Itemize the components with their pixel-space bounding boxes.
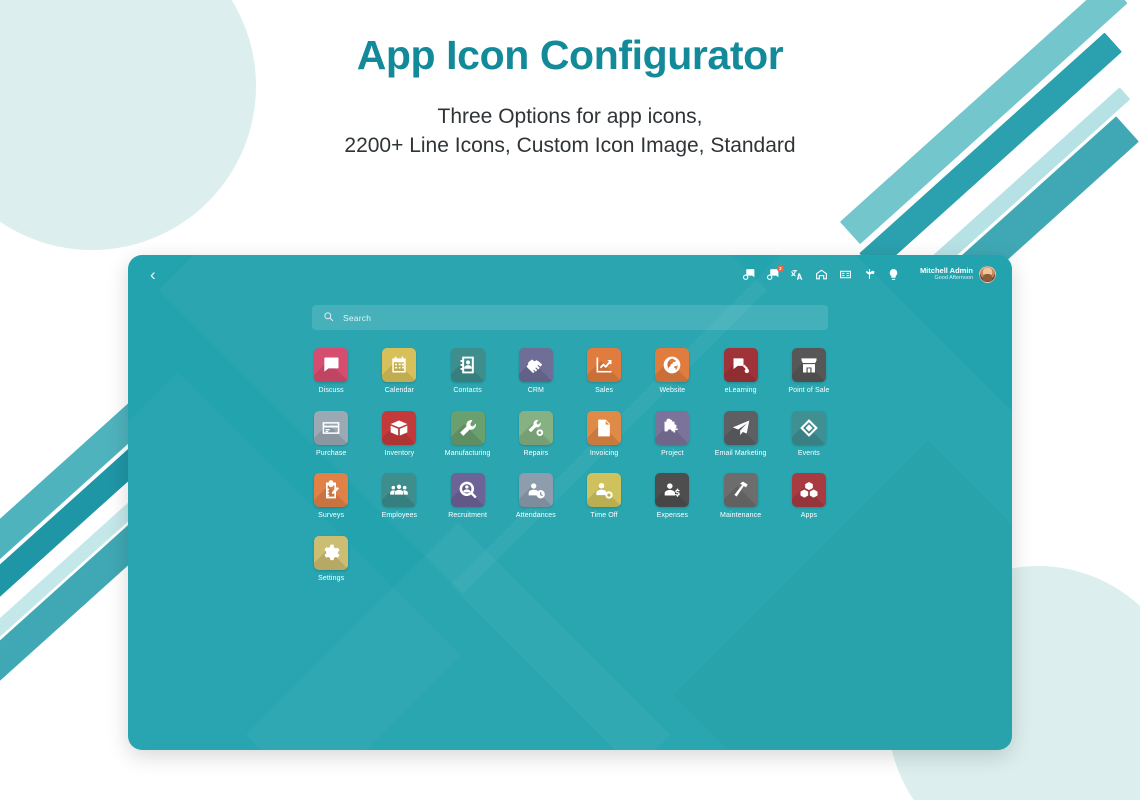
box-icon[interactable] [382, 411, 416, 445]
app-label: Sales [595, 387, 613, 395]
paper-plane-icon[interactable] [724, 411, 758, 445]
app-label: Recruitment [448, 512, 487, 520]
handshake-icon[interactable] [519, 348, 553, 382]
people-icon[interactable] [382, 473, 416, 507]
app-label: Discuss [319, 387, 344, 395]
page-subtitle-line-2: 2200+ Line Icons, Custom Icon Image, Sta… [0, 132, 1140, 160]
messages-icon[interactable] [742, 267, 757, 282]
app-tile-maintenance[interactable]: Maintenance [707, 473, 775, 520]
page-header: App Icon Configurator Three Options for … [0, 0, 1140, 160]
puzzle-icon[interactable] [655, 411, 689, 445]
app-tile-attendances[interactable]: Attendances [502, 473, 570, 520]
app-tile-surveys[interactable]: Surveys [297, 473, 365, 520]
wrench-icon[interactable] [451, 411, 485, 445]
app-tile-point-of-sale[interactable]: Point of Sale [775, 348, 843, 395]
app-label: Time Off [591, 512, 618, 520]
apps-grid-icon[interactable] [838, 267, 853, 282]
app-tile-email-marketing[interactable]: Email Marketing [707, 411, 775, 458]
app-label: Email Marketing [715, 450, 767, 458]
user-greeting: Good Afternoon [920, 275, 973, 281]
debug-icon[interactable] [862, 267, 877, 282]
app-label: Contacts [453, 387, 481, 395]
avatar[interactable] [979, 266, 996, 283]
search-bar[interactable]: Search [312, 305, 828, 330]
app-tile-calendar[interactable]: Calendar [365, 348, 433, 395]
app-label: Inventory [385, 450, 415, 458]
user-name: Mitchell Admin [920, 267, 973, 276]
app-label: CRM [528, 387, 544, 395]
app-tile-elearning[interactable]: eLearning [707, 348, 775, 395]
app-label: Surveys [318, 512, 344, 520]
app-label: Repairs [523, 450, 548, 458]
app-tile-manufacturing[interactable]: Manufacturing [434, 411, 502, 458]
app-label: Calendar [385, 387, 414, 395]
app-tile-recruitment[interactable]: Recruitment [434, 473, 502, 520]
app-label: eLearning [725, 387, 757, 395]
storefront-icon[interactable] [792, 348, 826, 382]
gear-icon[interactable] [314, 536, 348, 570]
app-label: Point of Sale [788, 387, 829, 395]
app-label: Settings [318, 575, 344, 583]
app-grid: DiscussCalendarContactsCRMSalesWebsiteeL… [297, 348, 843, 583]
repair-gear-icon[interactable] [519, 411, 553, 445]
app-label: Invoicing [590, 450, 619, 458]
app-tile-sales[interactable]: Sales [570, 348, 638, 395]
person-dollar-icon[interactable] [655, 473, 689, 507]
app-label: Purchase [316, 450, 346, 458]
app-window: ‹ 2 [128, 255, 1012, 750]
user-menu[interactable]: Mitchell Admin Good Afternoon [920, 266, 996, 283]
search-input[interactable]: Search [343, 313, 371, 323]
contacts-icon[interactable] [451, 348, 485, 382]
app-tile-contacts[interactable]: Contacts [434, 348, 502, 395]
app-label: Events [798, 450, 820, 458]
enterprise-icon[interactable] [814, 267, 829, 282]
page-title: App Icon Configurator [0, 30, 1140, 81]
cubes-icon[interactable] [792, 473, 826, 507]
app-tile-inventory[interactable]: Inventory [365, 411, 433, 458]
magnifier-person-icon[interactable] [451, 473, 485, 507]
app-label: Project [661, 450, 684, 458]
person-gear-icon[interactable] [587, 473, 621, 507]
app-tile-apps[interactable]: Apps [775, 473, 843, 520]
calendar-icon[interactable] [382, 348, 416, 382]
sales-chart-icon[interactable] [587, 348, 621, 382]
app-tile-purchase[interactable]: Purchase [297, 411, 365, 458]
app-tile-project[interactable]: Project [638, 411, 706, 458]
tips-icon[interactable] [886, 267, 901, 282]
window-topbar: ‹ 2 [128, 255, 1012, 293]
page-subtitle: Three Options for app icons, 2200+ Line … [0, 103, 1140, 160]
clipboard-edit-icon[interactable] [314, 473, 348, 507]
person-clock-icon[interactable] [519, 473, 553, 507]
app-tile-expenses[interactable]: Expenses [638, 473, 706, 520]
elearning-icon[interactable] [724, 348, 758, 382]
app-tile-employees[interactable]: Employees [365, 473, 433, 520]
globe-icon[interactable] [655, 348, 689, 382]
credit-card-icon[interactable] [314, 411, 348, 445]
app-tile-settings[interactable]: Settings [297, 536, 365, 583]
app-label: Apps [801, 512, 817, 520]
app-tile-crm[interactable]: CRM [502, 348, 570, 395]
app-label: Maintenance [720, 512, 761, 520]
discuss-icon[interactable] [314, 348, 348, 382]
app-tile-website[interactable]: Website [638, 348, 706, 395]
app-label: Manufacturing [445, 450, 491, 458]
app-tile-discuss[interactable]: Discuss [297, 348, 365, 395]
app-label: Employees [382, 512, 418, 520]
hammer-icon[interactable] [724, 473, 758, 507]
app-tile-repairs[interactable]: Repairs [502, 411, 570, 458]
activities-badge: 2 [777, 265, 784, 272]
app-label: Expenses [657, 512, 689, 520]
app-label: Website [659, 387, 685, 395]
ticket-icon[interactable] [792, 411, 826, 445]
page-subtitle-line-1: Three Options for app icons, [0, 103, 1140, 131]
systray: 2 Mitchell Admin Good Afternoon [742, 266, 996, 283]
app-tile-events[interactable]: Events [775, 411, 843, 458]
activities-icon[interactable]: 2 [766, 267, 781, 282]
app-label: Attendances [516, 512, 556, 520]
search-icon [323, 309, 334, 327]
app-tile-time-off[interactable]: Time Off [570, 473, 638, 520]
invoice-icon[interactable] [587, 411, 621, 445]
app-tile-invoicing[interactable]: Invoicing [570, 411, 638, 458]
user-text: Mitchell Admin Good Afternoon [920, 267, 973, 282]
back-button[interactable]: ‹ [150, 266, 156, 283]
translate-icon[interactable] [790, 267, 805, 282]
